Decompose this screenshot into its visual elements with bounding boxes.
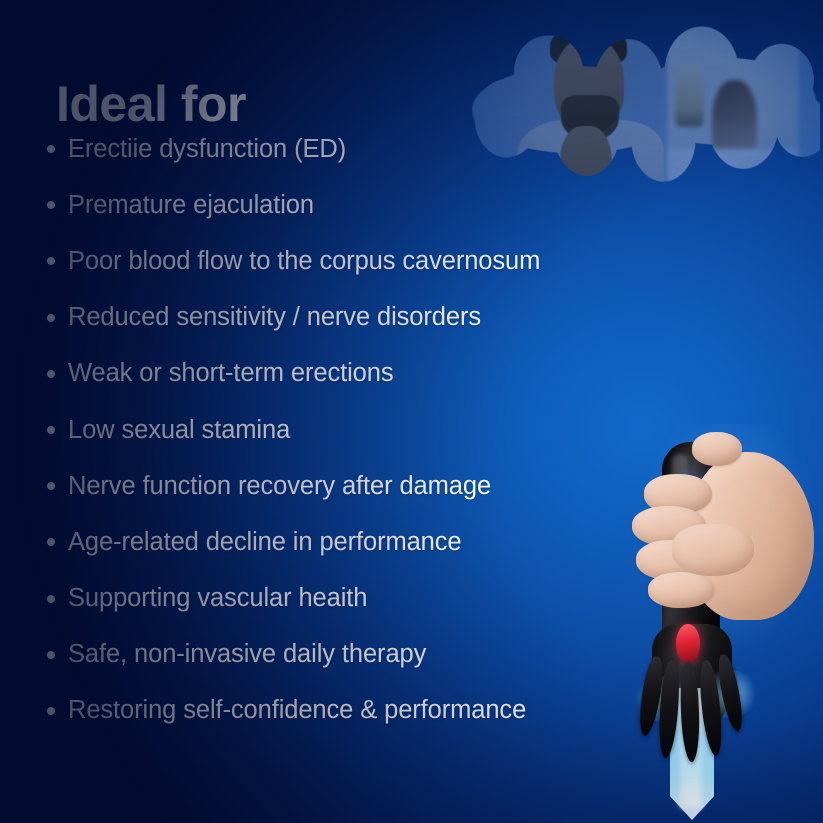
bullet-icon [47,426,55,434]
list-item: Premature ejaculation [40,177,660,233]
list-item-label: Low sexual stamina [68,416,290,445]
bullet-icon [47,538,55,546]
hand-finger [692,432,742,466]
list-item: Age-related decline in performance [40,514,660,570]
list-item-label: Reduced sensitivity / nerve disorders [68,303,481,332]
list-item: Restoring self-confidence & performance [40,683,660,739]
list-item: Erectiie dysfunction (ED) [40,121,660,177]
list-item: Reduced sensitivity / nerve disorders [40,290,660,346]
list-item: Low sexual stamina [40,402,660,458]
product-device-photo [596,424,823,823]
bullet-icon [47,595,55,603]
hand-thumb [672,524,754,576]
list-item-label: Premature ejaculation [68,191,314,220]
promo-graphic: Ideal for Erectiie dysfunction (ED) Prem… [0,0,823,823]
bullet-icon [47,314,55,322]
bullet-icon [47,707,55,715]
bullet-icon [47,201,55,209]
bullet-icon [47,257,55,265]
list-item-label: Poor blood flow to the corpus cavernosum [68,247,540,276]
bullet-icon [47,651,55,659]
list-item-label: Safe, non-invasive daily therapy [68,640,426,669]
list-item-label: Restoring self-confidence & performance [68,696,526,725]
list-item: Weak or short-term erections [40,346,660,402]
bullet-icon [47,482,55,490]
list-item-label: Erectiie dysfunction (ED) [68,135,346,164]
list-item-label: Weak or short-term erections [68,359,394,388]
list-item: Poor blood flow to the corpus cavernosum [40,233,660,289]
list-item-label: Supporting vascular heaith [68,584,367,613]
list-item: Supporting vascular heaith [40,571,660,627]
benefit-list: Erectiie dysfunction (ED) Premature ejac… [40,121,660,739]
red-gem-indicator [676,624,700,662]
list-item-label: Nerve function recovery after damage [68,472,491,501]
list-item: Safe, non-invasive daily therapy [40,627,660,683]
bullet-icon [47,145,55,153]
hand-finger [648,572,714,608]
bullet-icon [47,370,55,378]
list-item-label: Age-related decline in performance [68,528,462,557]
list-item: Nerve function recovery after damage [40,458,660,514]
